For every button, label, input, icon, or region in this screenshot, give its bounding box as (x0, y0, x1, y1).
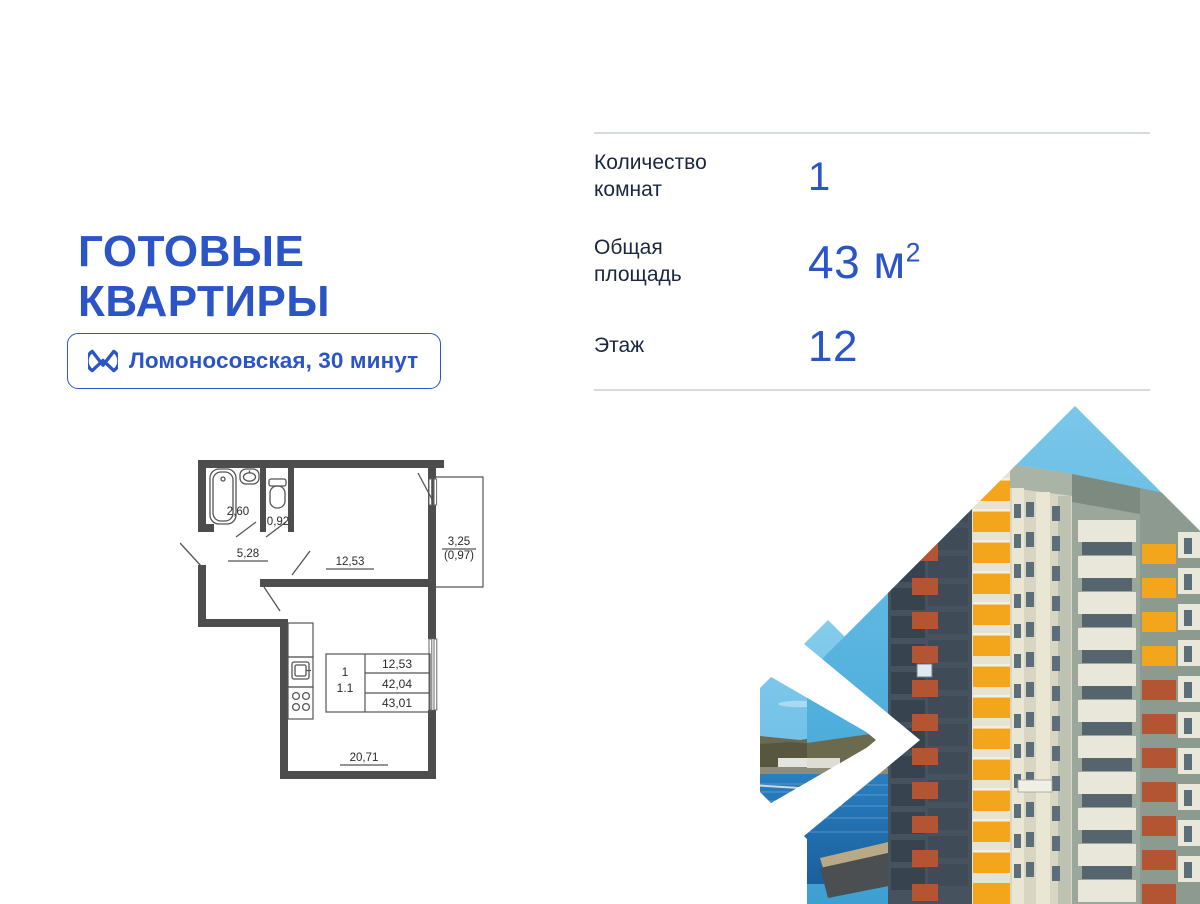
balcony-outline (436, 477, 483, 587)
spec-row-rooms: Количество комнат 1 (594, 134, 1150, 219)
stove-icon (293, 693, 310, 711)
spec-value-rooms: 1 (808, 157, 831, 197)
table-area-with-balcony: 43,01 (382, 696, 412, 710)
sink-icon (240, 469, 259, 484)
building-orange-column (972, 464, 1011, 904)
dim-wc: 0,92 (267, 516, 289, 528)
dim-hallway: 5,28 (237, 548, 259, 560)
floorplan-summary-table: 1 1.1 12,53 42,04 43,01 (326, 654, 430, 712)
dim-balcony: 3,25 (448, 536, 470, 548)
dim-balcony-coeff: (0,97) (444, 550, 474, 562)
door-swings (180, 473, 434, 611)
metro-m-icon (88, 348, 118, 375)
floorplan[interactable]: .wall { fill: #4d4d4d; } .thin { fill: n… (180, 455, 490, 795)
table-apartment-number: 1.1 (337, 681, 354, 695)
spec-label-floor: Этаж (594, 333, 808, 359)
spec-row-floor: Этаж 12 (594, 304, 1150, 389)
building-photo[interactable] (760, 392, 1200, 904)
apartment-specs-panel: Количество комнат 1 Общая площадь 43 м2 … (594, 132, 1150, 391)
spec-value-floor: 12 (808, 325, 858, 369)
large-diamond (800, 392, 1200, 904)
dim-kitchen-living: 20,71 (350, 752, 379, 764)
toilet-icon (269, 479, 286, 508)
table-living-area: 12,53 (382, 657, 412, 671)
building-main-facade (1010, 464, 1072, 904)
spec-divider-bottom (594, 389, 1150, 391)
metro-badge-label: Ломоносовская, 30 минут (129, 348, 418, 374)
building-far-right (1140, 488, 1200, 904)
spec-row-area: Общая площадь 43 м2 (594, 219, 1150, 304)
spec-value-area: 43 м2 (808, 239, 921, 285)
spec-value-area-number: 43 м (808, 236, 906, 288)
spec-label-area: Общая площадь (594, 235, 808, 288)
left-column: ГОТОВЫЕ КВАРТИРЫ Ломоносовская, 30 минут… (0, 0, 580, 900)
page-title: ГОТОВЫЕ КВАРТИРЫ (78, 227, 330, 326)
dim-room: 12,53 (336, 556, 365, 568)
spec-value-area-unit: 2 (906, 237, 921, 267)
table-area-without-balcony: 42,04 (382, 677, 412, 691)
floorplan-dimension-labels: 2,60 0,92 5,28 12,53 3,25 (0,97) 20,71 (227, 506, 476, 765)
spec-label-rooms: Количество комнат (594, 150, 808, 203)
dim-bathroom: 2,60 (227, 506, 249, 518)
table-rooms-count: 1 (342, 665, 349, 679)
kitchen-sink-icon (292, 662, 311, 679)
building-left-wing (888, 470, 972, 904)
building-right-block (1072, 474, 1140, 904)
metro-badge[interactable]: Ломоносовская, 30 минут (67, 333, 441, 389)
